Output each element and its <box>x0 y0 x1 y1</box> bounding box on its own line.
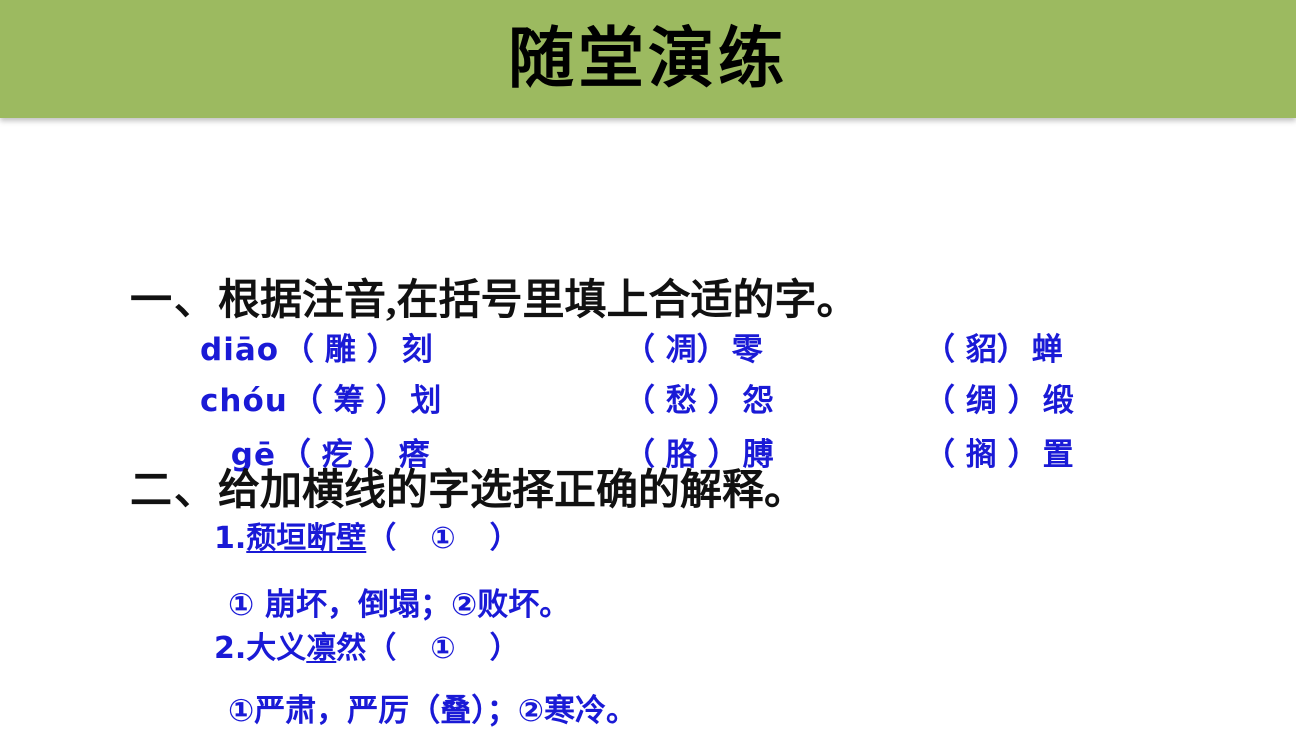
answer-bracket[interactable]: （ 愁 ） <box>620 379 743 423</box>
title-banner: 随堂演练 <box>0 0 1296 118</box>
word-suffix: 缎 <box>1043 383 1074 419</box>
fill-row: chóu（ 筹 ）划 （ 愁 ）怨 （ 绸 ）缎 <box>200 379 1260 423</box>
question-item: 1.颓垣断壁（ ① ） <box>214 524 522 554</box>
fill-cell: （ 凋）零 <box>620 328 763 372</box>
fill-cell: chóu（ 筹 ）划 <box>200 379 441 423</box>
word-suffix: 零 <box>732 332 763 368</box>
answer-bracket[interactable]: （ 搁 ） <box>920 433 1043 477</box>
fill-row: diāo（ 雕 ）刻 （ 凋）零 （ 貂）蝉 <box>200 328 1260 372</box>
section-two-heading-text: 给加横线的字选择正确的解释。 <box>218 468 806 514</box>
section-two-number: 二、 <box>130 468 218 514</box>
question-options: ①严肃，严厉（叠）；②寒冷。 <box>228 696 637 727</box>
fill-cell: （ 愁 ）怨 <box>620 379 774 423</box>
word-suffix: 怨 <box>743 383 774 419</box>
question-item: 2.大义凛然（ ① ） <box>214 634 522 664</box>
underlined-idiom: 颓垣断壁 <box>246 521 366 556</box>
idiom-suffix: 然 <box>336 631 366 666</box>
section-one-number: 一、 <box>130 278 218 324</box>
question-options: ① 崩坏，倒塌；②败坏。 <box>228 590 570 621</box>
idiom-prefix: 大义 <box>246 631 306 666</box>
question-label: 1. <box>214 521 246 556</box>
answer-bracket[interactable]: （ ① ） <box>366 631 521 666</box>
answer-bracket[interactable]: （ 凋） <box>620 328 732 372</box>
answer-bracket[interactable]: （ 筹 ） <box>288 379 411 423</box>
section-one-heading-text: 根据注音,在括号里填上合适的字。 <box>218 278 859 324</box>
page-title: 随堂演练 <box>508 26 788 92</box>
fill-cell: （ 搁 ）置 <box>920 433 1074 477</box>
answer-bracket[interactable]: （ 貂） <box>920 328 1032 372</box>
option-list: ①严肃，严厉（叠）；②寒冷。 <box>228 693 637 729</box>
section-two-heading: 二、给加横线的字选择正确的解释。 <box>130 470 806 512</box>
answer-bracket[interactable]: （ 雕 ） <box>279 328 402 372</box>
question-label: 2. <box>214 631 246 666</box>
section-one-heading: 一、根据注音,在括号里填上合适的字。 <box>130 280 859 322</box>
fill-cell: （ 貂）蝉 <box>920 328 1063 372</box>
underlined-idiom: 凛 <box>306 631 336 666</box>
answer-bracket[interactable]: （ ① ） <box>366 521 521 556</box>
option-list: ① 崩坏，倒塌；②败坏。 <box>228 587 570 623</box>
answer-bracket[interactable]: （ 绸 ） <box>920 379 1043 423</box>
pinyin-label: chóu <box>200 379 288 423</box>
word-suffix: 刻 <box>402 332 433 368</box>
word-suffix: 置 <box>1043 437 1074 473</box>
word-suffix: 蝉 <box>1032 332 1063 368</box>
pinyin-label: diāo <box>200 328 279 372</box>
word-suffix: 划 <box>410 383 441 419</box>
fill-cell: diāo（ 雕 ）刻 <box>200 328 433 372</box>
slide-body: 一、根据注音,在括号里填上合适的字。 diāo（ 雕 ）刻 （ 凋）零 （ 貂）… <box>0 118 1296 729</box>
fill-cell: （ 绸 ）缎 <box>920 379 1074 423</box>
